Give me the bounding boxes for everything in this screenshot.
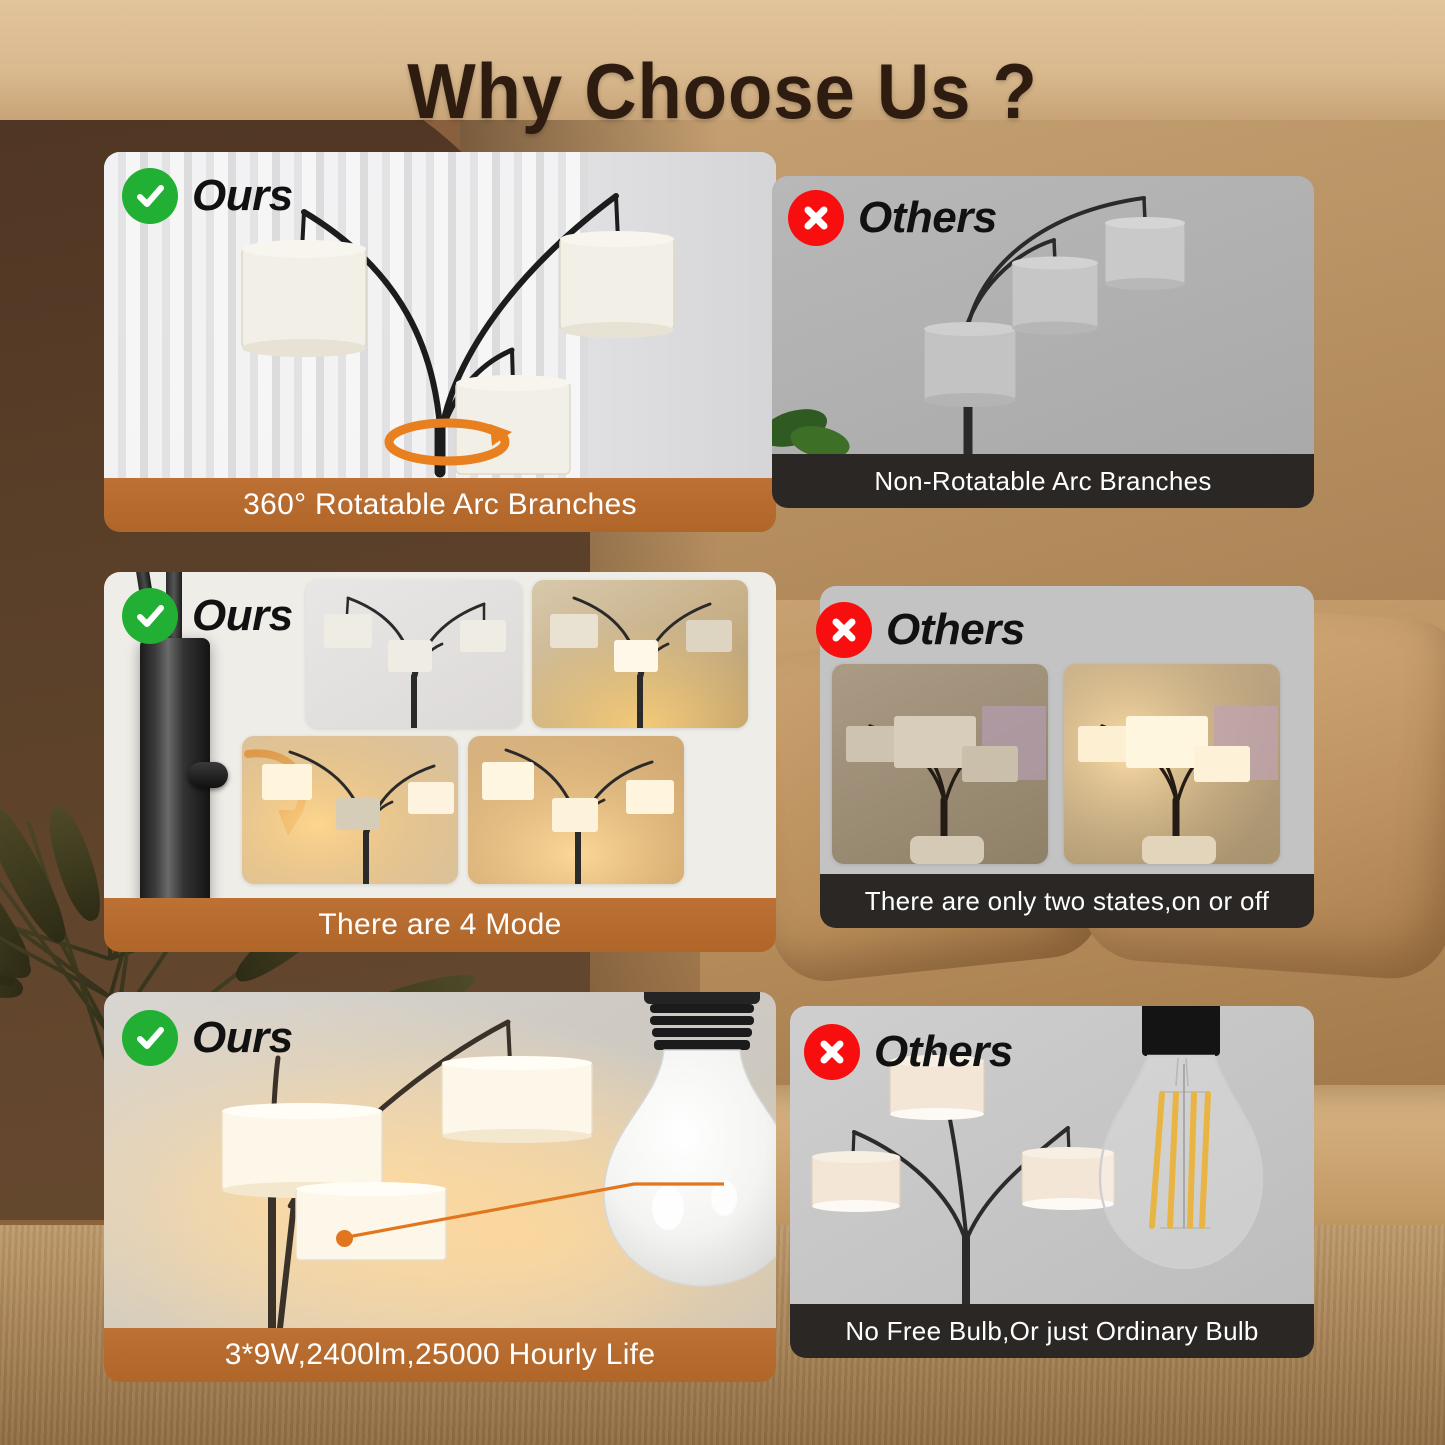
state-photo-on	[1064, 664, 1280, 864]
ours-label: Ours	[192, 174, 293, 218]
others-caption-modes: There are only two states,on or off	[820, 874, 1314, 928]
comparison-row-modes: There are 4 Mode Ours	[0, 572, 1445, 952]
ours-label: Ours	[192, 594, 293, 638]
others-badge-bulbs: Others	[804, 1024, 1013, 1080]
ours-badge-modes: Ours	[122, 588, 293, 644]
comparison-row-rotatable: 360° Rotatable Arc Branches Ours	[0, 152, 1445, 532]
others-label: Others	[874, 1030, 1013, 1074]
others-caption-bulbs: No Free Bulb,Or just Ordinary Bulb	[790, 1304, 1314, 1358]
ours-caption-modes: There are 4 Mode	[104, 898, 776, 952]
others-card-modes[interactable]: There are only two states,on or off Othe…	[820, 586, 1314, 928]
others-label: Others	[886, 608, 1025, 652]
mode-photo-3	[242, 736, 458, 884]
mode-photo-2	[532, 580, 748, 728]
ours-card-rotatable[interactable]: 360° Rotatable Arc Branches Ours	[104, 152, 776, 532]
ours-caption-rotatable: 360° Rotatable Arc Branches	[104, 478, 776, 532]
cross-icon	[816, 602, 872, 658]
ours-caption-bulbs: 3*9W,2400lm,25000 Hourly Life	[104, 1328, 776, 1382]
check-icon	[122, 1010, 178, 1066]
state-photo-off	[832, 664, 1048, 864]
mode-photo-1	[306, 580, 522, 728]
ours-badge-rotatable: Ours	[122, 168, 293, 224]
check-icon	[122, 168, 178, 224]
others-badge-modes: Others	[816, 602, 1025, 658]
comparison-row-bulbs: 3*9W,2400lm,25000 Hourly Life Ours	[0, 992, 1445, 1382]
cross-icon	[804, 1024, 860, 1080]
mode-photo-4	[468, 736, 684, 884]
ours-card-bulbs[interactable]: 3*9W,2400lm,25000 Hourly Life Ours	[104, 992, 776, 1382]
others-badge-rotatable: Others	[788, 190, 997, 246]
others-label: Others	[858, 196, 997, 240]
cross-icon	[788, 190, 844, 246]
rotation-arrow-icon	[372, 402, 522, 478]
bulb-callout-dot	[336, 1230, 353, 1247]
others-card-rotatable[interactable]: Non-Rotatable Arc Branches Others	[772, 176, 1314, 508]
check-icon	[122, 588, 178, 644]
ours-badge-bulbs: Ours	[122, 1010, 293, 1066]
ours-label: Ours	[192, 1016, 293, 1060]
bulb-callout-line	[334, 1172, 724, 1282]
edison-filament-bulb-icon	[1090, 1006, 1314, 1304]
page-title: Why Choose Us ?	[51, 46, 1395, 137]
plant-leaf-decoration	[772, 402, 852, 454]
others-caption-rotatable: Non-Rotatable Arc Branches	[772, 454, 1314, 508]
ours-card-modes[interactable]: There are 4 Mode Ours	[104, 572, 776, 952]
others-card-bulbs[interactable]: No Free Bulb,Or just Ordinary Bulb Other…	[790, 1006, 1314, 1358]
